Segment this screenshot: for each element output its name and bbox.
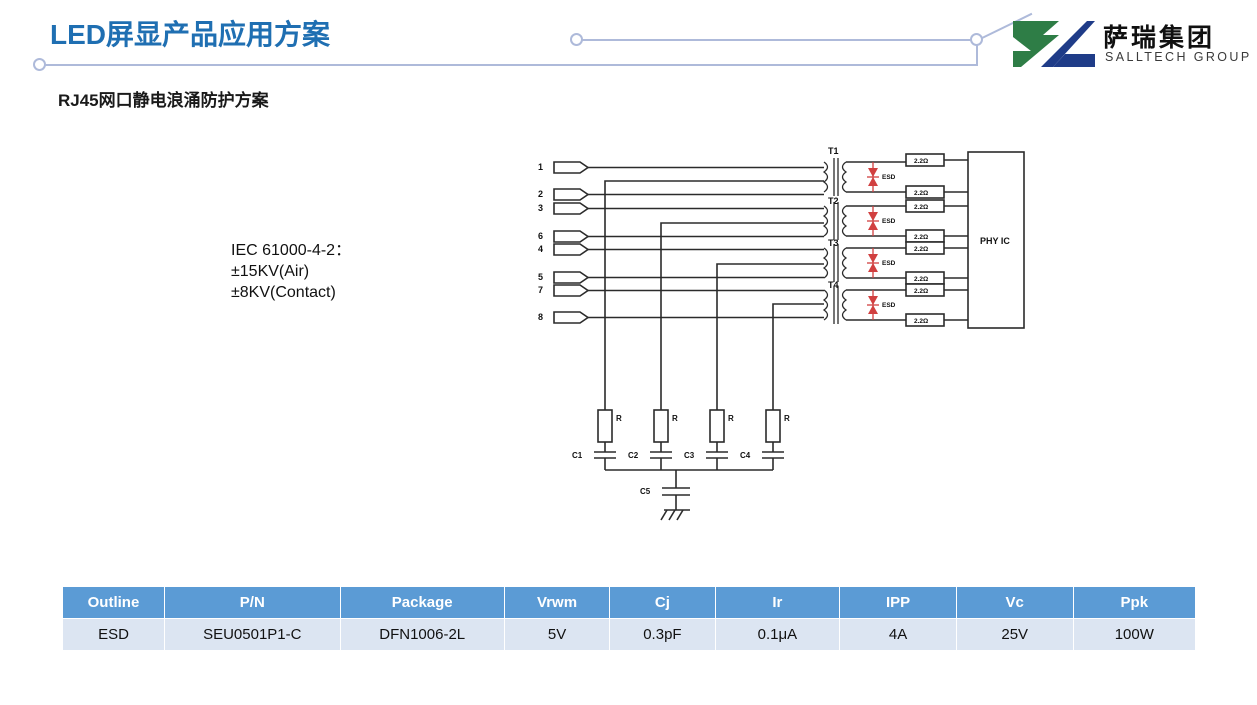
pin-connector-4: 4 (538, 244, 824, 255)
svg-text:2.2Ω: 2.2Ω (914, 246, 928, 253)
header-decoration-dot-middle (570, 33, 583, 46)
svg-text:T3: T3 (828, 238, 839, 248)
pin-connector-6: 6 (538, 231, 824, 242)
logo-name-en: SALLTECH GROUP (1105, 50, 1252, 64)
series-resistor-4: 2.2Ω (906, 230, 968, 242)
header-decoration-dot-left (33, 58, 46, 71)
esd-label-1: ESD (882, 174, 896, 181)
pin-connector-1: 1 (538, 162, 824, 173)
table-header-row: Outline P/N Package Vrwm Cj Ir IPP Vc Pp… (63, 587, 1196, 619)
logo-name-cn: 萨瑞集团 (1103, 18, 1215, 54)
svg-text:2.2Ω: 2.2Ω (914, 204, 928, 211)
table-header-cj: Cj (610, 587, 715, 619)
header-decoration-line-lower (40, 64, 978, 66)
page-title: LED屏显产品应用方案 (50, 13, 330, 53)
pin-connector-5: 5 (538, 272, 824, 283)
pin-connector-3: 3 (538, 203, 824, 214)
esd-diode-4: ESD (867, 290, 896, 320)
table-header-ir: Ir (715, 587, 840, 619)
svg-text:R: R (728, 414, 734, 423)
cell-pn: SEU0501P1-C (164, 619, 340, 651)
cell-ipp: 4A (840, 619, 957, 651)
pin-connector-7: 7 (538, 285, 824, 296)
page-header: LED屏显产品应用方案 萨瑞集团 SALLTECH GROUP (0, 0, 1257, 88)
table-header-vrwm: Vrwm (504, 587, 609, 619)
shunt-rc-2: R C2 (628, 410, 678, 470)
table-header-ppk: Ppk (1073, 587, 1195, 619)
table-header-ipp: IPP (840, 587, 957, 619)
company-logo: 萨瑞集团 SALLTECH GROUP (1013, 18, 1251, 74)
shunt-rc-3: R C3 (684, 410, 734, 470)
section-subtitle: RJ45网口静电浪涌防护方案 (58, 86, 269, 111)
esd-label-2: ESD (882, 218, 896, 225)
table-row: ESD SEU0501P1-C DFN1006-2L 5V 0.3pF 0.1μ… (63, 619, 1196, 651)
cell-ppk: 100W (1073, 619, 1195, 651)
series-resistor-1: 2.2Ω (906, 154, 968, 166)
table-header-outline: Outline (63, 587, 165, 619)
svg-text:R: R (616, 414, 622, 423)
svg-text:4: 4 (538, 244, 543, 254)
svg-text:2.2Ω: 2.2Ω (914, 288, 928, 295)
table-header-package: Package (340, 587, 504, 619)
svg-text:5: 5 (538, 272, 543, 282)
table-header-vc: Vc (956, 587, 1073, 619)
capacitor-label-c3: C3 (684, 451, 695, 460)
transformer-t2: T2 (824, 196, 918, 240)
product-spec-table: Outline P/N Package Vrwm Cj Ir IPP Vc Pp… (62, 586, 1196, 651)
cell-ir: 0.1μA (715, 619, 840, 651)
svg-text:2.2Ω: 2.2Ω (914, 276, 928, 283)
salltech-logo-mark-icon (1013, 21, 1095, 67)
esd-diode-2: ESD (867, 206, 896, 236)
series-resistor-6: 2.2Ω (906, 272, 968, 284)
svg-text:2.2Ω: 2.2Ω (914, 318, 928, 325)
capacitor-label-c4: C4 (740, 451, 751, 460)
capacitor-label-c5: C5 (640, 487, 651, 496)
cell-cj: 0.3pF (610, 619, 715, 651)
iec-spec-block: IEC 61000-4-2： ±15KV(Air) ±8KV(Contact) (231, 240, 351, 303)
iec-spec-line-standard: IEC 61000-4-2： (231, 240, 351, 261)
phy-ic-block: PHY IC (968, 152, 1024, 328)
cell-vc: 25V (956, 619, 1073, 651)
cell-package: DFN1006-2L (340, 619, 504, 651)
series-resistor-8: 2.2Ω (906, 314, 968, 326)
esd-diode-3: ESD (867, 248, 896, 278)
transformer-t3: T3 (824, 238, 918, 282)
svg-text:8: 8 (538, 312, 543, 322)
capacitor-label-c1: C1 (572, 451, 583, 460)
table-header-pn: P/N (164, 587, 340, 619)
center-tap-network-lines (605, 181, 824, 412)
shunt-rc-4: R C4 (740, 410, 790, 470)
bypass-capacitor-c5: C5 (640, 470, 690, 520)
svg-text:2.2Ω: 2.2Ω (914, 158, 928, 165)
pin-connector-2: 2 (538, 189, 824, 200)
svg-text:T4: T4 (828, 280, 839, 290)
series-resistor-7: 2.2Ω (906, 284, 968, 296)
svg-text:2.2Ω: 2.2Ω (914, 190, 928, 197)
svg-text:2: 2 (538, 189, 543, 199)
svg-text:2.2Ω: 2.2Ω (914, 234, 928, 241)
svg-text:R: R (784, 414, 790, 423)
cell-vrwm: 5V (504, 619, 609, 651)
transformer-t4: T4 (824, 280, 918, 324)
capacitor-label-c2: C2 (628, 451, 639, 460)
iec-spec-line-air: ±15KV(Air) (231, 261, 351, 282)
shunt-rc-1: R C1 (572, 410, 622, 470)
esd-label-3: ESD (882, 260, 896, 267)
esd-diode-1: ESD (867, 162, 896, 192)
svg-text:7: 7 (538, 285, 543, 295)
rj45-esd-protection-schematic: .wire { stroke:#2b2b2b; stroke-width:1.6… (528, 140, 1038, 530)
svg-text:T1: T1 (828, 146, 839, 156)
series-resistor-2: 2.2Ω (906, 186, 968, 198)
header-decoration-dot-right (970, 33, 983, 46)
svg-text:1: 1 (538, 162, 543, 172)
iec-spec-line-contact: ±8KV(Contact) (231, 282, 351, 303)
series-resistor-3: 2.2Ω (906, 200, 968, 212)
svg-text:3: 3 (538, 203, 543, 213)
header-decoration-line-upper (578, 39, 978, 41)
svg-text:6: 6 (538, 231, 543, 241)
pin-connector-8: 8 (538, 312, 824, 323)
cell-outline: ESD (63, 619, 165, 651)
series-resistor-5: 2.2Ω (906, 242, 968, 254)
phy-ic-label: PHY IC (980, 236, 1010, 246)
svg-text:T2: T2 (828, 196, 839, 206)
ground-symbol-icon (661, 510, 690, 520)
svg-text:R: R (672, 414, 678, 423)
esd-label-4: ESD (882, 302, 896, 309)
